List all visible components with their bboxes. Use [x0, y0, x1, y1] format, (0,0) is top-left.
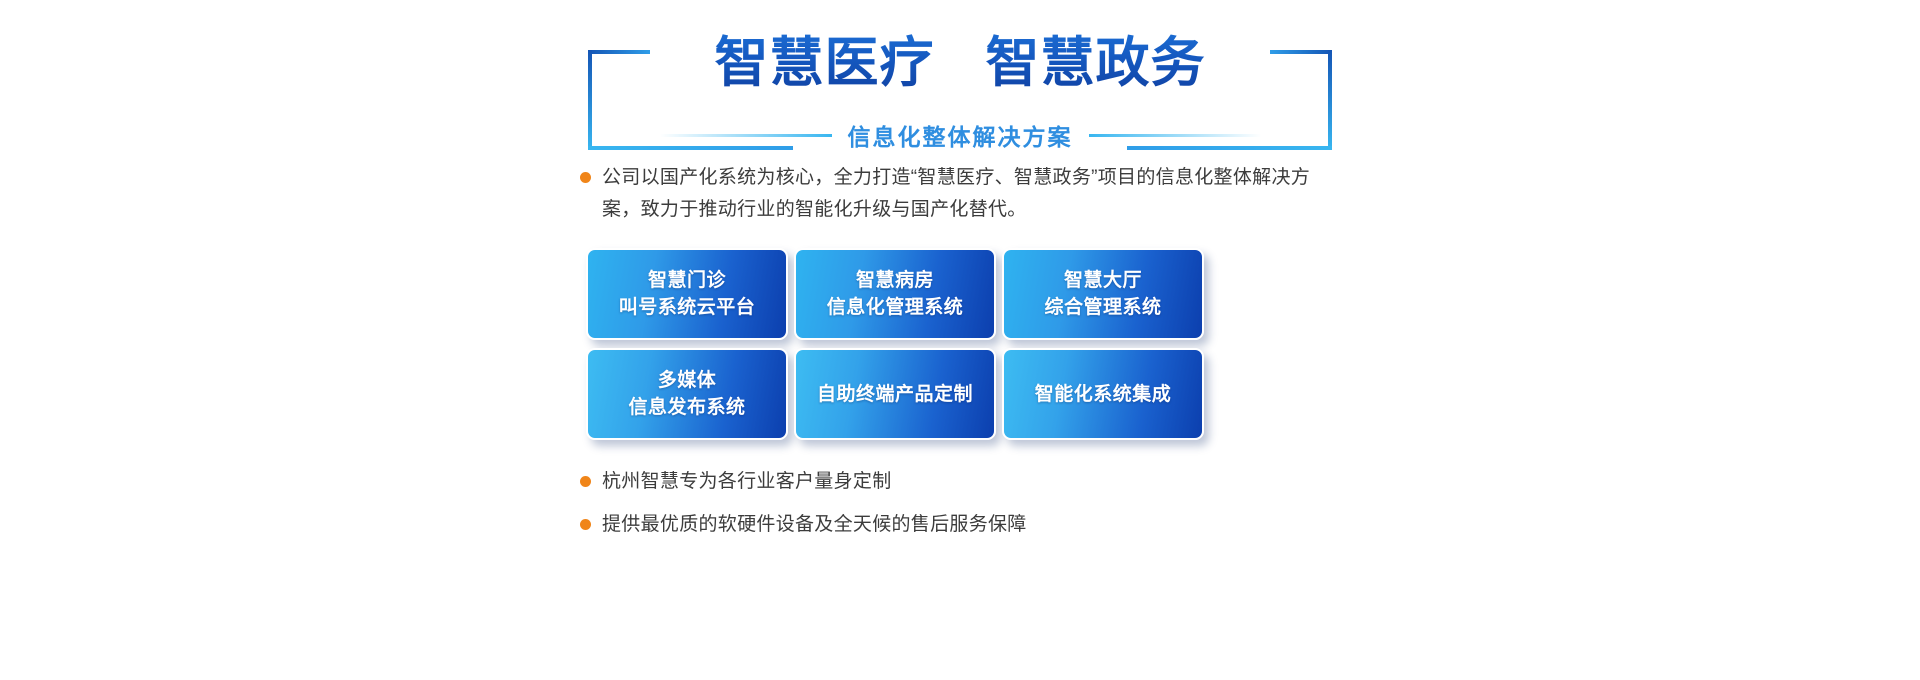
card-label: 智慧病房 信息化管理系统: [827, 267, 964, 321]
bullet-dot-icon: [580, 519, 591, 530]
card-label: 智能化系统集成: [1035, 381, 1172, 408]
solution-card[interactable]: 智能化系统集成: [1002, 348, 1204, 440]
title-part-two: 智慧政务: [985, 28, 1205, 98]
solution-card[interactable]: 多媒体 信息发布系统: [586, 348, 788, 440]
solution-card[interactable]: 自助终端产品定制: [794, 348, 996, 440]
solution-card[interactable]: 智慧大厅 综合管理系统: [1002, 248, 1204, 340]
intro-text: 公司以国产化系统为核心，全力打造“智慧医疗、智慧政务”项目的信息化整体解决方案，…: [602, 162, 1324, 226]
list-item: 提供最优质的软硬件设备及全天候的售后服务保障: [580, 511, 1280, 539]
solution-card[interactable]: 智慧病房 信息化管理系统: [794, 248, 996, 340]
intro-paragraph: 公司以国产化系统为核心，全力打造“智慧医疗、智慧政务”项目的信息化整体解决方案，…: [580, 162, 1324, 226]
bullet-dot-icon: [580, 172, 591, 183]
bullet-text: 杭州智慧专为各行业客户量身定制: [602, 468, 892, 496]
page-subtitle: 信息化整体解决方案: [848, 118, 1073, 152]
subtitle-row: 信息化整体解决方案: [580, 118, 1340, 152]
subtitle-rule-right: [1089, 134, 1261, 137]
feature-bullet-list: 杭州智慧专为各行业客户量身定制 提供最优质的软硬件设备及全天候的售后服务保障: [580, 468, 1280, 554]
banner-stage: 智慧医疗 智慧政务 信息化整体解决方案 公司以国产化系统为核心，全力打造“智慧医…: [0, 0, 1920, 680]
card-label: 智慧大厅 综合管理系统: [1044, 267, 1161, 321]
card-label: 自助终端产品定制: [817, 381, 973, 408]
subtitle-rule-left: [660, 134, 832, 137]
bullet-dot-icon: [580, 476, 591, 487]
content-column: 智慧医疗 智慧政务 信息化整体解决方案 公司以国产化系统为核心，全力打造“智慧医…: [580, 0, 1340, 680]
card-label: 多媒体 信息发布系统: [628, 367, 745, 421]
solution-card-grid: 智慧门诊 叫号系统云平台 智慧病房 信息化管理系统 智慧大厅 综合管理系统 多媒…: [586, 248, 1206, 440]
title-part-one: 智慧医疗: [715, 28, 935, 98]
header-block: 智慧医疗 智慧政务 信息化整体解决方案: [580, 22, 1340, 162]
solution-card[interactable]: 智慧门诊 叫号系统云平台: [586, 248, 788, 340]
card-label: 智慧门诊 叫号系统云平台: [619, 267, 756, 321]
bullet-text: 提供最优质的软硬件设备及全天候的售后服务保障: [602, 511, 1027, 539]
list-item: 杭州智慧专为各行业客户量身定制: [580, 468, 1280, 496]
page-title: 智慧医疗 智慧政务: [580, 28, 1340, 98]
